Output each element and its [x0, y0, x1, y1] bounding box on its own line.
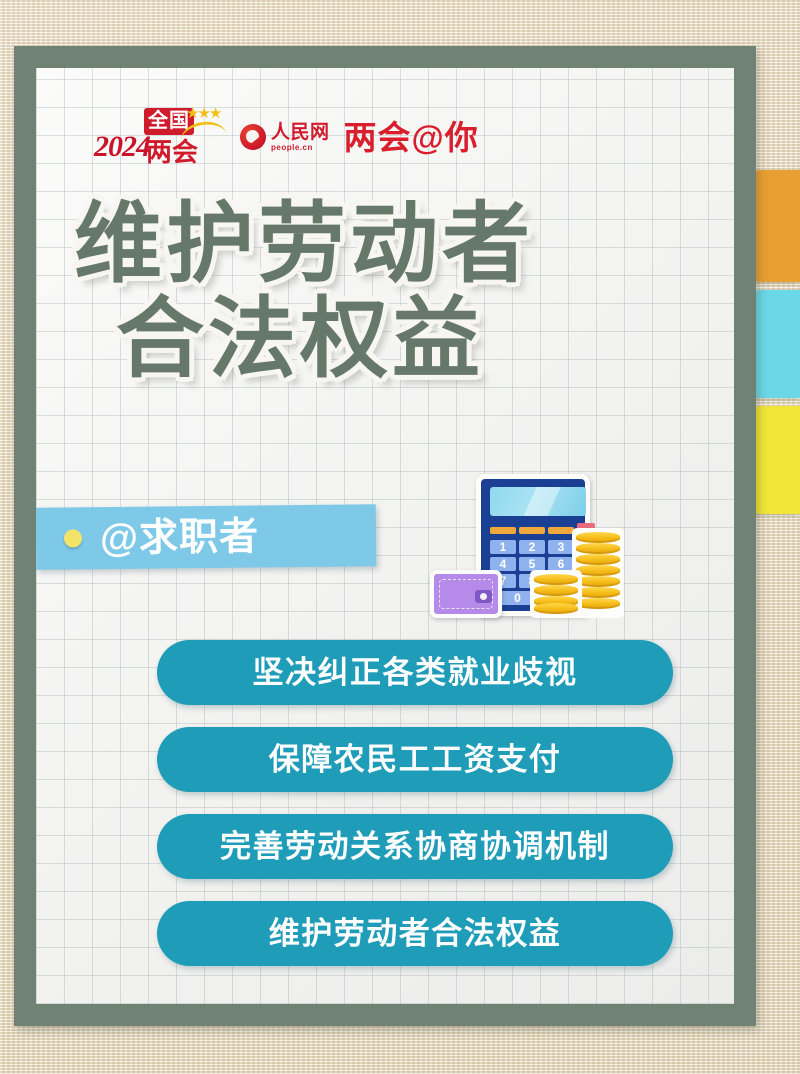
- lianghui-at-you-logo: 两会@你: [344, 121, 479, 154]
- coin: [576, 565, 620, 576]
- grid-paper-surface: 2024 全国 两会 ★★★ 人民网 people.cn 两会@你 维: [36, 68, 734, 1004]
- calculator-key-3: 3: [548, 540, 574, 554]
- bullet-pill-label: 坚决纠正各类就业歧视: [253, 657, 578, 688]
- calculator-key-2: 2: [519, 540, 545, 554]
- calculator-display: [490, 487, 586, 516]
- bullet-pill-list: 坚决纠正各类就业歧视 保障农民工工资支付 完善劳动关系协商协调机制 维护劳动者合…: [157, 640, 673, 966]
- bullet-pill-label: 完善劳动关系协商协调机制: [220, 831, 610, 862]
- calculator-money-illustration: + 1 2 3 4 5 6 − 7 8 9 0: [426, 466, 638, 638]
- coin: [576, 576, 620, 587]
- coin: [534, 603, 578, 614]
- coin: [576, 554, 620, 565]
- poster-root: 2024 全国 两会 ★★★ 人民网 people.cn 两会@你 维: [0, 0, 800, 1074]
- coin: [534, 574, 578, 585]
- coin-stack-short-icon: [530, 570, 582, 618]
- audience-banner: @求职者: [36, 504, 376, 570]
- bullet-pill[interactable]: 保障农民工工资支付: [157, 727, 673, 792]
- coin: [576, 543, 620, 554]
- calculator-key-4: 4: [490, 557, 516, 571]
- people-cn-logo: 人民网 people.cn: [240, 123, 330, 152]
- calculator-key-1: 1: [490, 540, 516, 554]
- calculator-key-5: 5: [519, 557, 545, 571]
- wallet-clasp-icon: [475, 590, 492, 603]
- calculator-key-strip: [548, 527, 574, 534]
- lianghui-2024-logo: 2024 全国 两会 ★★★: [94, 108, 226, 166]
- coin: [576, 532, 620, 543]
- page-title-line-1: 维护劳动者: [74, 196, 714, 291]
- logo-lianghui: 两会: [146, 139, 198, 165]
- banner-dot-icon: [64, 529, 82, 547]
- card-frame: 2024 全国 两会 ★★★ 人民网 people.cn 两会@你 维: [14, 46, 756, 1026]
- people-cn-domain: people.cn: [271, 144, 330, 152]
- bullet-pill-label: 维护劳动者合法权益: [269, 918, 562, 949]
- coin: [576, 598, 620, 609]
- people-cn-mark-icon: [240, 124, 266, 150]
- logo-year: 2024: [94, 130, 150, 164]
- wallet-icon: [430, 570, 502, 618]
- bullet-pill-label: 保障农民工工资支付: [269, 744, 562, 775]
- calculator-key-strip: [490, 527, 516, 534]
- coin: [576, 587, 620, 598]
- banner-label: @求职者: [100, 517, 259, 558]
- coin: [534, 585, 578, 596]
- page-title: 维护劳动者 合法权益: [74, 196, 714, 386]
- bullet-pill[interactable]: 坚决纠正各类就业歧视: [157, 640, 673, 705]
- calculator-key-6: 6: [548, 557, 574, 571]
- bullet-pill[interactable]: 完善劳动关系协商协调机制: [157, 814, 673, 879]
- people-cn-chinese: 人民网: [271, 123, 330, 142]
- page-title-line-2: 合法权益: [116, 291, 714, 386]
- logo-stars-icon: ★★★: [186, 104, 220, 122]
- people-cn-wordmark: 人民网 people.cn: [271, 123, 330, 152]
- header-logo-row: 2024 全国 两会 ★★★ 人民网 people.cn 两会@你: [94, 108, 479, 166]
- calculator-key-strip: [519, 527, 545, 534]
- bullet-pill[interactable]: 维护劳动者合法权益: [157, 901, 673, 966]
